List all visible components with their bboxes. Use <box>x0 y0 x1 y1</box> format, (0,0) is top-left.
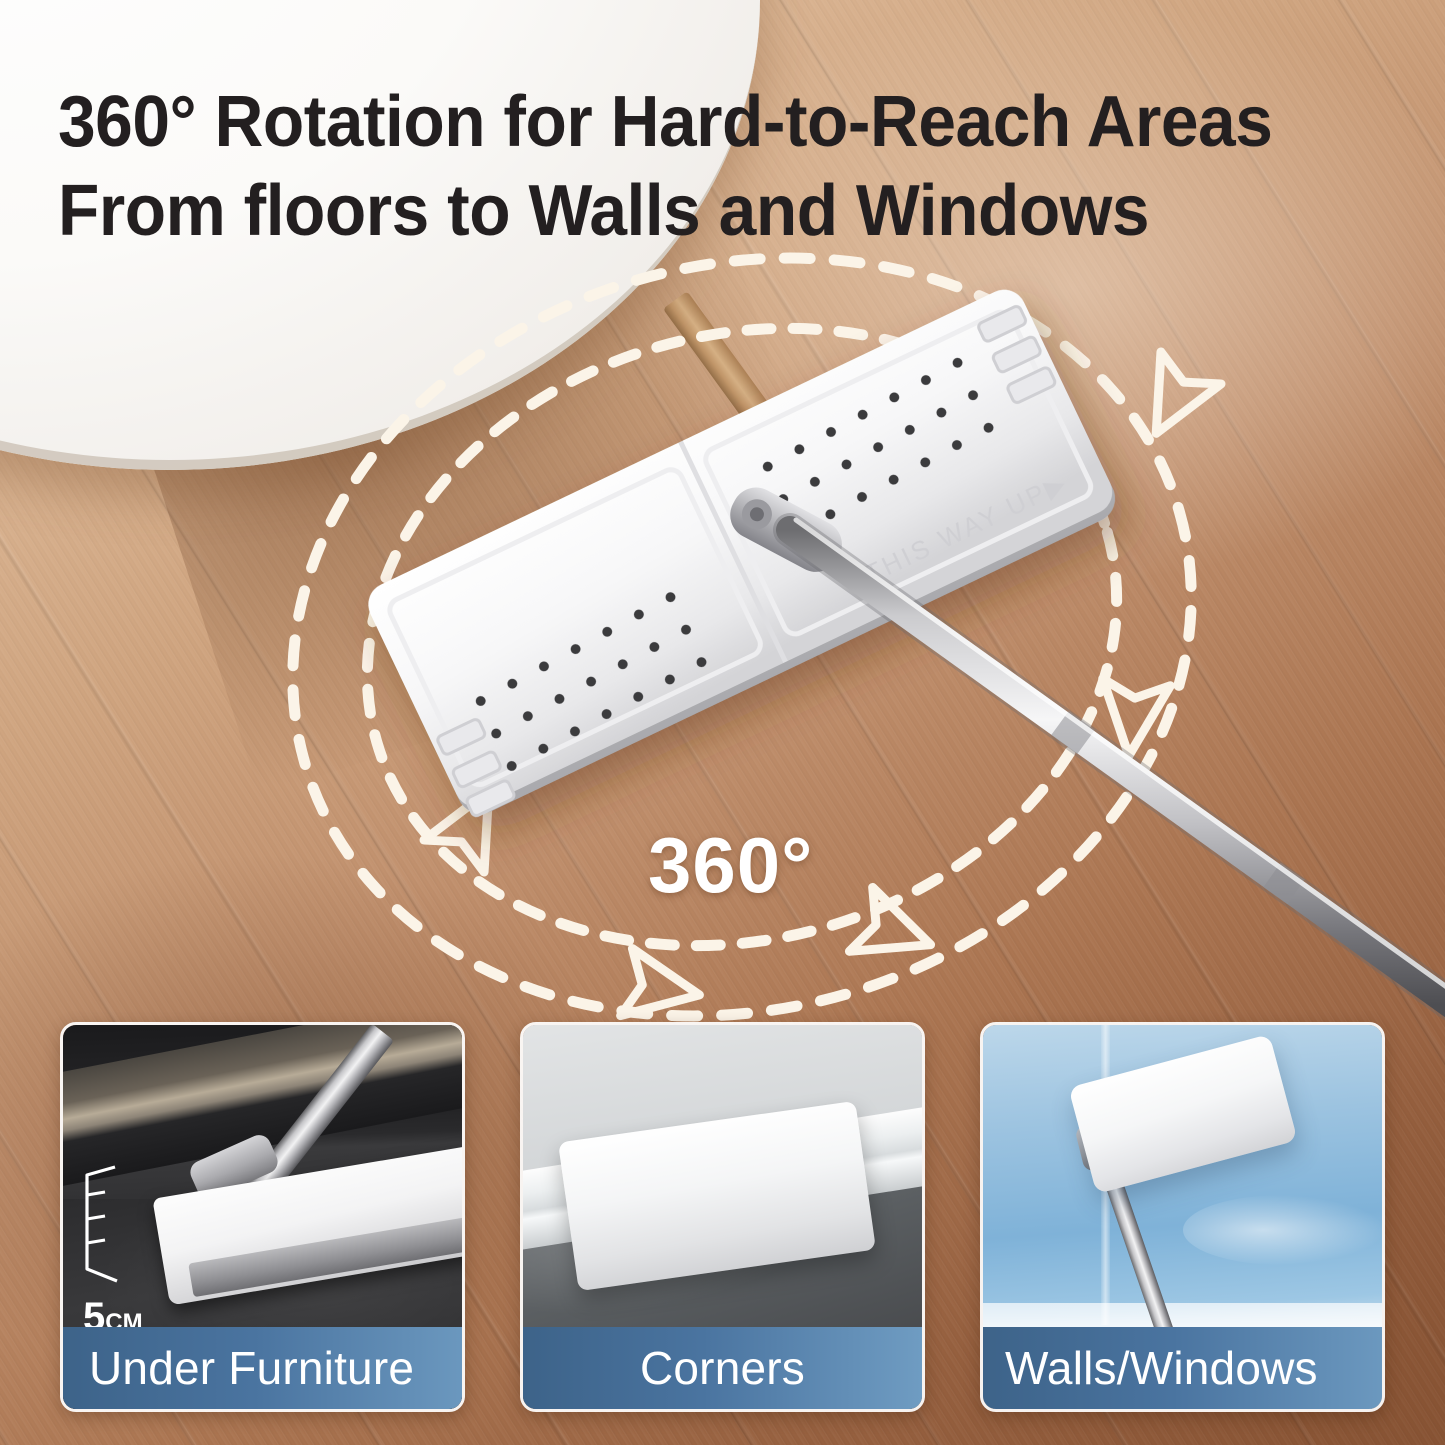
panel-walls-windows[interactable]: Walls/Windows <box>980 1022 1385 1412</box>
headline: 360° Rotation for Hard-to-Reach Areas Fr… <box>58 78 1318 257</box>
clearance-ruler-icon <box>81 1165 121 1285</box>
panel-caption-under-furniture: Under Furniture <box>63 1327 465 1409</box>
headline-line-2: From floors to Walls and Windows <box>58 167 1318 256</box>
degree-label: 360° <box>648 820 813 911</box>
product-feature-image: .arc { fill:none; stroke:#fbf4e8; stroke… <box>0 0 1445 1445</box>
panel-caption-walls-windows: Walls/Windows <box>983 1327 1385 1409</box>
use-case-panels: 5CM Under Furniture Corners <box>0 1022 1445 1420</box>
cloud <box>1183 1195 1383 1265</box>
headline-line-1: 360° Rotation for Hard-to-Reach Areas <box>58 78 1318 167</box>
panel-caption-corners: Corners <box>523 1327 922 1409</box>
panel-corners[interactable]: Corners <box>520 1022 925 1412</box>
panel-under-furniture[interactable]: 5CM Under Furniture <box>60 1022 465 1412</box>
